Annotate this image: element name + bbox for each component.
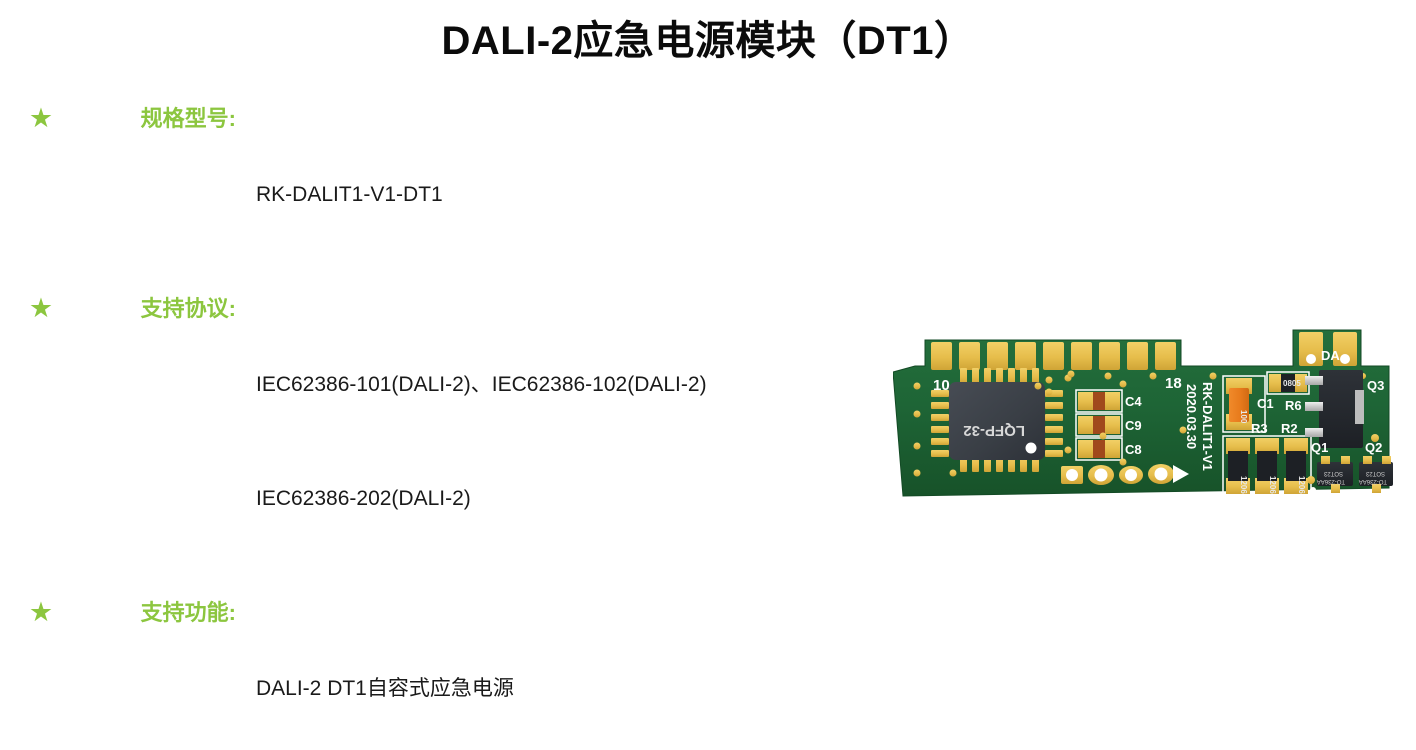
capacitor-group-left: C4 C9 C8 [1076,390,1142,460]
svg-text:SOT23: SOT23 [1323,470,1343,476]
ref-r6: R6 [1285,398,1302,413]
ref-c1: C1 [1257,396,1274,411]
specification-list: ★ 规格型号: RK-DALIT1-V1-DT1 ★ 支持协议: IEC6238… [28,100,968,750]
spec-label: 支持功能: [68,594,236,632]
chip-label: LQFP-32 [963,422,1025,439]
svg-text:0805: 0805 [1283,379,1301,388]
star-icon: ★ [28,295,54,321]
silkscreen-model: RK-DALIT1-V1 [1200,382,1215,471]
ref-q2: Q2 [1365,440,1382,455]
ref-q1: Q1 [1311,440,1328,455]
spec-value-line: DALI-2 DT1自容式应急电源 [256,670,968,708]
ref-r4: R4 [1223,496,1240,511]
ref-r3: R3 [1251,421,1268,436]
da-pad-label: DA [1321,348,1340,363]
spec-label: 规格型号: [68,100,236,138]
spec-row: ★ 规格型号: RK-DALIT1-V1-DT1 [28,100,968,290]
star-icon: ★ [28,599,54,625]
spec-value-line: IEC62386-202(DALI-2) [256,480,968,518]
ref-c9: C9 [1125,418,1142,433]
resistor-code: 1206 [1239,476,1248,494]
product-spec-sheet: DALI-2应急电源模块（DT1） ★ 规格型号: RK-DALIT1-V1-D… [0,0,1416,750]
pcb-board-image: DA 10 18 RK-DALIT1-V1 2020.03.30 [893,318,1393,518]
spec-row: ★ 支持协议: IEC62386-101(DALI-2)、IEC62386-10… [28,290,968,594]
ref-q3: Q3 [1367,378,1384,393]
star-cell: ★ [28,100,68,132]
star-icon: ★ [28,105,54,131]
spec-label: 支持协议: [68,290,236,328]
svg-text:100: 100 [1239,410,1248,424]
star-cell: ★ [28,290,68,322]
page-title: DALI-2应急电源模块（DT1） [0,14,1416,68]
spec-value: DALI-2 DT1自容式应急电源 [236,594,968,750]
svg-text:SOT23: SOT23 [1365,470,1385,476]
pin-number-right: 18 [1165,375,1182,392]
ref-c8: C8 [1125,442,1142,457]
spec-value: RK-DALIT1-V1-DT1 [236,100,968,290]
ref-r2: R2 [1281,421,1298,436]
resistor-code: 1206 [1268,476,1277,494]
gold-finger-pads [931,342,1176,370]
ref-c4: C4 [1125,394,1142,409]
star-cell: ★ [28,594,68,626]
spec-value: IEC62386-101(DALI-2)、IEC62386-102(DALI-2… [236,290,968,594]
svg-text:TO-236AA: TO-236AA [1359,478,1387,484]
spec-value-line: RK-DALIT1-V1-DT1 [256,176,968,214]
spec-value-line: IEC62386-101(DALI-2)、IEC62386-102(DALI-2… [256,366,968,404]
resistor-code: 1206 [1297,476,1306,494]
spec-row: ★ 支持功能: DALI-2 DT1自容式应急电源 [28,594,968,750]
silkscreen-date: 2020.03.30 [1184,384,1199,449]
svg-text:TO-236AA: TO-236AA [1317,478,1345,484]
